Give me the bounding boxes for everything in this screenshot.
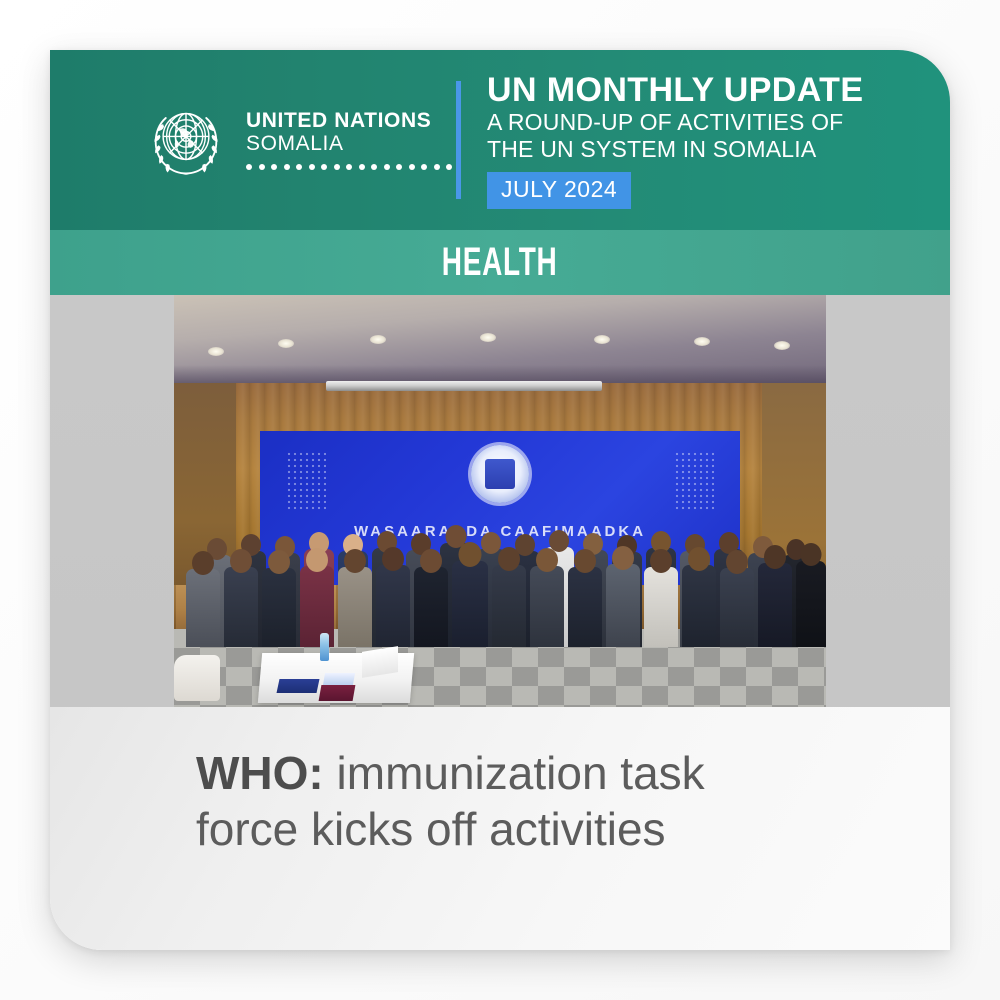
- photo-booklet-white: [323, 673, 355, 685]
- card-header: UNITED NATIONS SOMALIA UN MONTHLY UPDATE…: [50, 50, 950, 230]
- brand-line-united-nations: UNITED NATIONS: [246, 110, 452, 132]
- un-emblem-icon: [142, 96, 230, 184]
- caption-lead: WHO:: [196, 747, 324, 799]
- caption-rest: immunization task: [324, 747, 705, 799]
- photo-notebook-blue: [277, 679, 320, 693]
- photo-folder-maroon: [319, 685, 356, 701]
- brand-dotted-rule: [246, 164, 452, 170]
- photo-zone: WASAARADDA CAAFIMAADKA: [50, 295, 950, 707]
- photo-chair: [174, 655, 220, 701]
- header-titles: UN MONTHLY UPDATE A ROUND-UP OF ACTIVITI…: [461, 71, 863, 208]
- photo-group-of-people: [174, 477, 826, 647]
- brand-line-somalia: SOMALIA: [246, 132, 452, 155]
- caption-zone: WHO: immunization task force kicks off a…: [50, 707, 950, 950]
- newsletter-card: UNITED NATIONS SOMALIA UN MONTHLY UPDATE…: [50, 50, 950, 950]
- photo-projector-screen-housing: [326, 381, 602, 391]
- article-photo: WASAARADDA CAAFIMAADKA: [174, 295, 826, 707]
- un-brand-text: UNITED NATIONS SOMALIA: [246, 110, 452, 170]
- issue-date-badge: JULY 2024: [487, 172, 631, 209]
- page-title: UN MONTHLY UPDATE: [487, 71, 863, 109]
- page-canvas: UNITED NATIONS SOMALIA UN MONTHLY UPDATE…: [0, 0, 1000, 1000]
- photo-ceiling: [174, 295, 826, 391]
- page-subtitle-line-1: A ROUND-UP OF ACTIVITIES OF: [487, 109, 863, 136]
- caption-line-2: force kicks off activities: [196, 803, 666, 855]
- section-banner-label: HEALTH: [442, 240, 558, 285]
- page-subtitle-line-2: THE UN SYSTEM IN SOMALIA: [487, 136, 863, 163]
- photo-water-bottle: [320, 633, 329, 661]
- article-caption: WHO: immunization task force kicks off a…: [196, 745, 756, 857]
- section-banner-health: HEALTH: [50, 230, 950, 295]
- un-brand-block: UNITED NATIONS SOMALIA: [50, 96, 450, 184]
